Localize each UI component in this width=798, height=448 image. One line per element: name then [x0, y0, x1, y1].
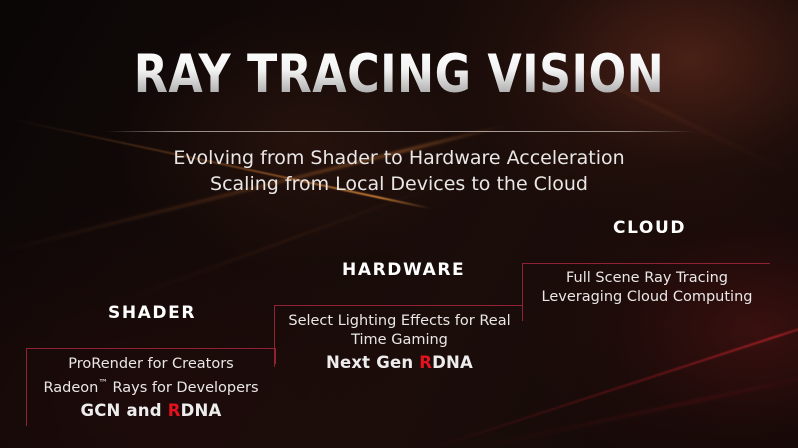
light-streak-icon	[470, 369, 798, 448]
stage-label-shader: SHADER	[108, 303, 196, 323]
stage-hardware-tech-prefix: Next Gen	[326, 353, 419, 372]
stage-shader-tech-suffix: DNA	[181, 401, 222, 420]
stage-box-hardware-left-edge	[274, 305, 275, 367]
stage-box-hardware-top-edge	[274, 305, 523, 306]
stage-text-cloud: Full Scene Ray Tracing Leveraging Cloud …	[524, 269, 770, 307]
stage-text-hardware: Select Lighting Effects for Real Time Ga…	[276, 312, 523, 372]
stage-box-cloud-top-edge	[522, 263, 770, 264]
stage-label-hardware: HARDWARE	[342, 260, 465, 280]
title-divider	[106, 131, 694, 132]
stage-shader-line-1: ProRender for Creators	[27, 355, 275, 374]
stage-hardware-tech: Next Gen RDNA	[276, 353, 523, 372]
stage-cloud-line-2: Leveraging Cloud Computing	[524, 288, 770, 307]
stage-hardware-tech-suffix: DNA	[432, 353, 473, 372]
stage-text-shader: ProRender for Creators Radeon™ Rays for …	[27, 355, 275, 420]
slide-subtitle: Evolving from Shader to Hardware Acceler…	[0, 145, 798, 197]
stage-shader-tech: GCN and RDNA	[27, 401, 275, 420]
stage-hardware-line-2: Time Gaming	[276, 331, 523, 350]
trademark-icon: ™	[98, 378, 108, 389]
subtitle-line-1: Evolving from Shader to Hardware Acceler…	[0, 145, 798, 171]
stage-shader-tech-accent: R	[168, 401, 181, 420]
stage-cloud-line-1: Full Scene Ray Tracing	[524, 269, 770, 288]
slide-title: RAY TRACING VISION	[28, 48, 770, 101]
subtitle-line-2: Scaling from Local Devices to the Cloud	[0, 171, 798, 197]
stage-box-shader-top-edge	[26, 348, 276, 349]
stage-label-cloud: CLOUD	[613, 218, 686, 238]
stage-shader-tech-prefix: GCN and	[80, 401, 167, 420]
stage-hardware-tech-accent: R	[419, 353, 432, 372]
stage-hardware-line-1: Select Lighting Effects for Real	[276, 312, 523, 331]
slide-canvas: RAY TRACING VISION Evolving from Shader …	[0, 0, 798, 448]
stage-shader-line-2: Radeon™ Rays for Developers	[27, 374, 275, 398]
stage-box-cloud-left-edge	[522, 263, 523, 307]
